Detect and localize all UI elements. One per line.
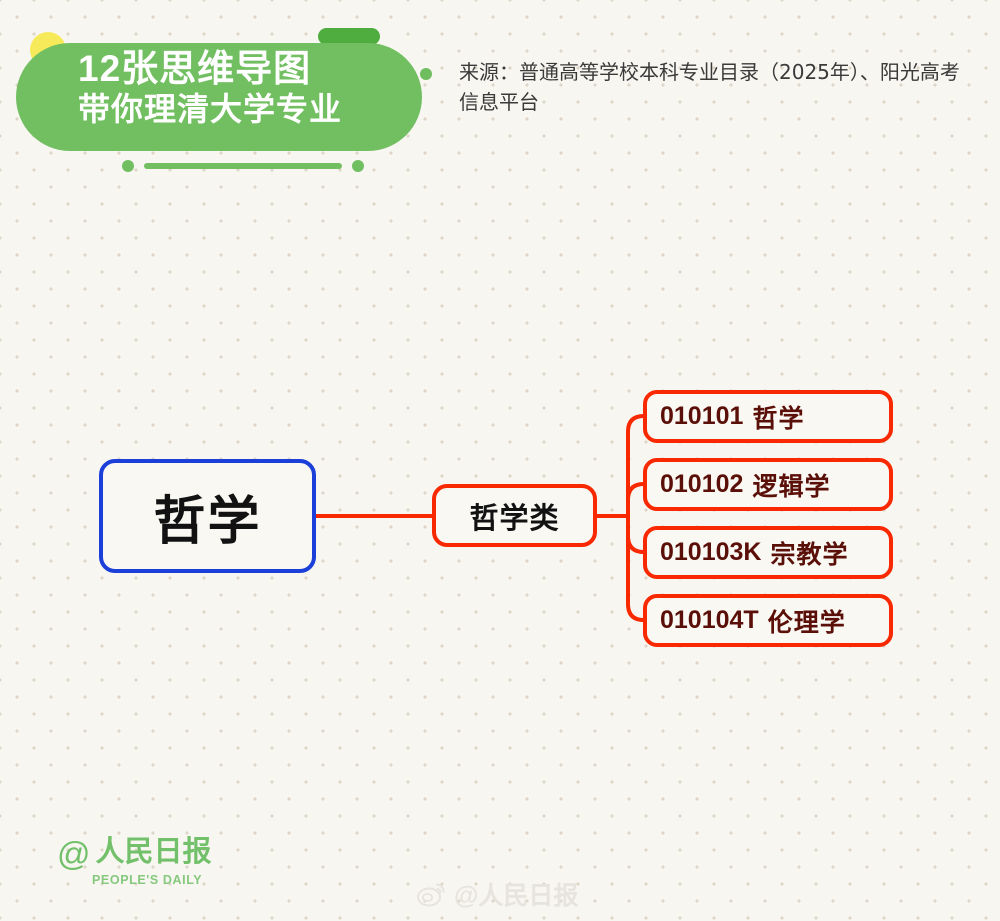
mindmap-leaf-code-4: 010104T [660, 606, 759, 635]
weibo-watermark: @人民日报 [417, 876, 578, 912]
peoples-daily-logo-row: @ 人民日报 [57, 836, 212, 869]
mindmap-leaf-node-1[interactable]: 010101 哲学 [643, 390, 893, 443]
mindmap-root-node[interactable]: 哲学 [99, 459, 316, 573]
mindmap-category-node[interactable]: 哲学类 [432, 484, 597, 547]
mindmap-root-label: 哲学 [153, 479, 261, 554]
peoples-daily-name-en: PEOPLE'S DAILY [92, 873, 212, 887]
mindmap-leaf-node-4[interactable]: 010104T 伦理学 [643, 594, 893, 647]
mindmap-leaf-node-2[interactable]: 010102 逻辑学 [643, 458, 893, 511]
connector-branch-leaf-2 [628, 484, 644, 500]
mindmap-leaf-name-2: 逻辑学 [752, 467, 830, 503]
mindmap-leaf-name-1: 哲学 [752, 399, 804, 435]
mindmap-leaf-code-2: 010102 [660, 470, 743, 499]
connector-branch-leaf-4 [628, 604, 644, 620]
peoples-daily-name-cn: 人民日报 [96, 838, 212, 867]
weibo-handle: @人民日报 [454, 876, 578, 912]
mindmap-leaf-code-3: 010103K [660, 538, 761, 567]
weibo-icon [417, 881, 447, 907]
mindmap-leaf-name-3: 宗教学 [770, 535, 848, 571]
peoples-daily-logo: @ 人民日报 PEOPLE'S DAILY [57, 836, 212, 887]
mindmap-leaf-node-3[interactable]: 010103K 宗教学 [643, 526, 893, 579]
mindmap-leaf-name-4: 伦理学 [768, 603, 846, 639]
infographic-page: 12张思维导图 带你理清大学专业 来源：普通高等学校本科专业目录（2025年）、… [0, 0, 1000, 921]
at-sign-icon: @ [57, 837, 91, 870]
mindmap-category-label: 哲学类 [469, 495, 559, 537]
mindmap-leaf-code-1: 010101 [660, 402, 743, 431]
connector-branch-leaf-3 [628, 536, 644, 552]
mindmap: 哲学 哲学类 010101 哲学 010102 逻辑学 010103K 宗教学 … [0, 0, 1000, 921]
connector-branch-leaf-1 [628, 416, 644, 432]
